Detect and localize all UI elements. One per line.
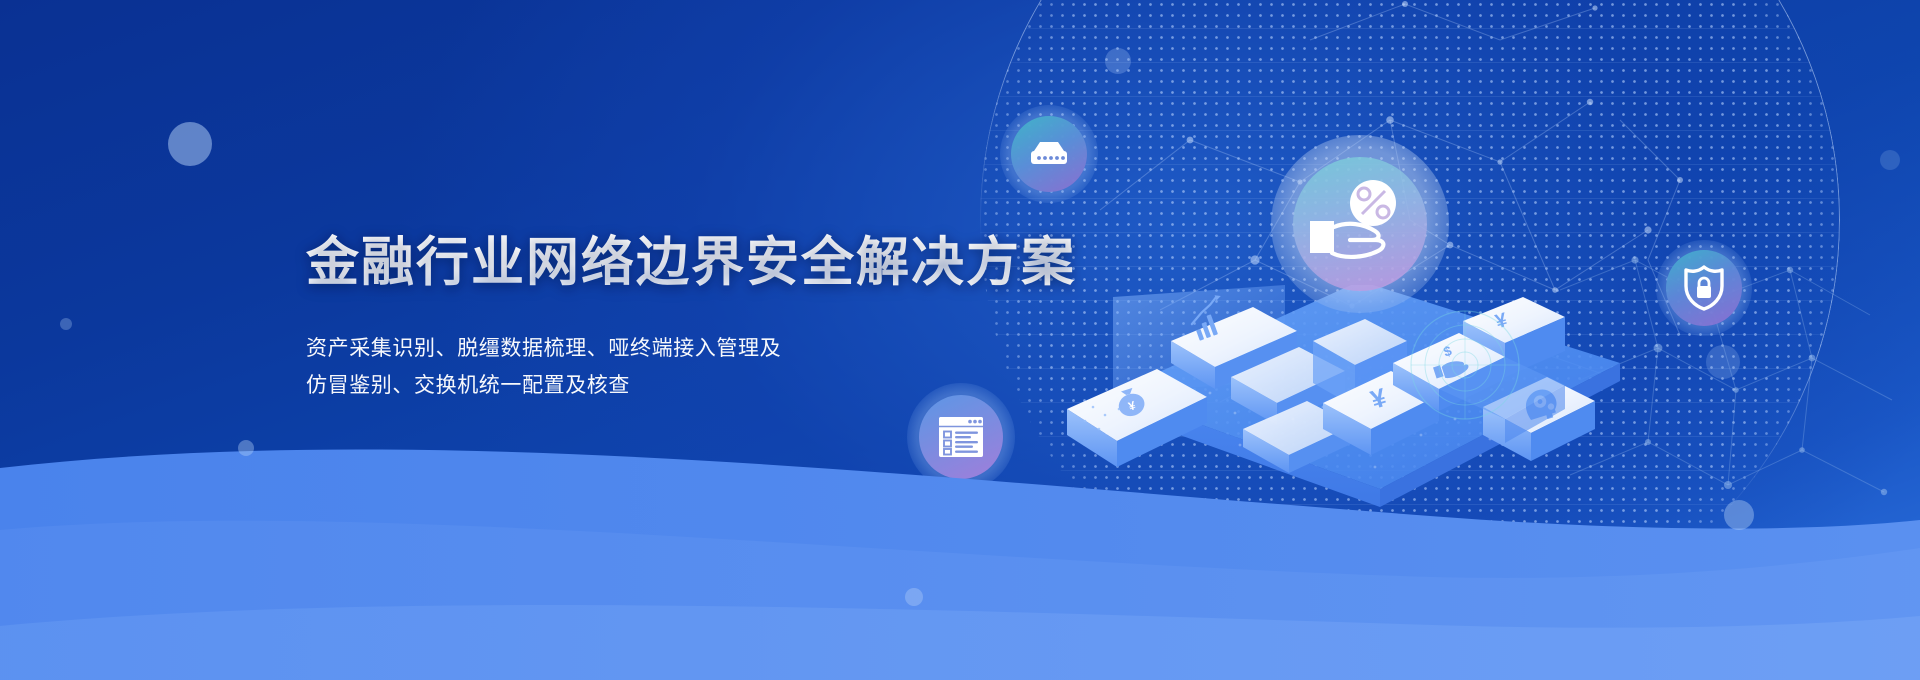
badge-shield: [1656, 240, 1752, 336]
shield-lock-icon: [1682, 264, 1726, 312]
decor-dot-7: [60, 318, 72, 330]
decor-dot-3: [1706, 345, 1740, 379]
decor-dot-6: [905, 588, 923, 606]
decor-dot-2: [1105, 48, 1131, 74]
decor-dot-4: [238, 440, 254, 456]
subtitle-line-1: 资产采集识别、脱缰数据梳理、哑终端接入管理及: [306, 330, 1086, 367]
decor-dot-8: [1880, 150, 1900, 170]
document-list-icon: [937, 415, 985, 459]
badge-hand-percent: [1271, 135, 1449, 313]
badge-router: [1000, 105, 1098, 203]
decor-dot-5: [1724, 500, 1754, 530]
hero-banner: ¥: [0, 0, 1920, 680]
hero-copy: 金融行业网络边界安全解决方案 资产采集识别、脱缰数据梳理、哑终端接入管理及 仿冒…: [306, 232, 1086, 404]
page-title: 金融行业网络边界安全解决方案: [306, 232, 1086, 295]
page-subtitle: 资产采集识别、脱缰数据梳理、哑终端接入管理及 仿冒鉴别、交换机统一配置及核查: [306, 330, 1086, 405]
subtitle-line-2: 仿冒鉴别、交换机统一配置及核查: [306, 367, 1086, 404]
hand-percent-coin-icon: [1304, 177, 1416, 271]
decor-dot-1: [168, 122, 212, 166]
router-icon: [1026, 137, 1072, 171]
